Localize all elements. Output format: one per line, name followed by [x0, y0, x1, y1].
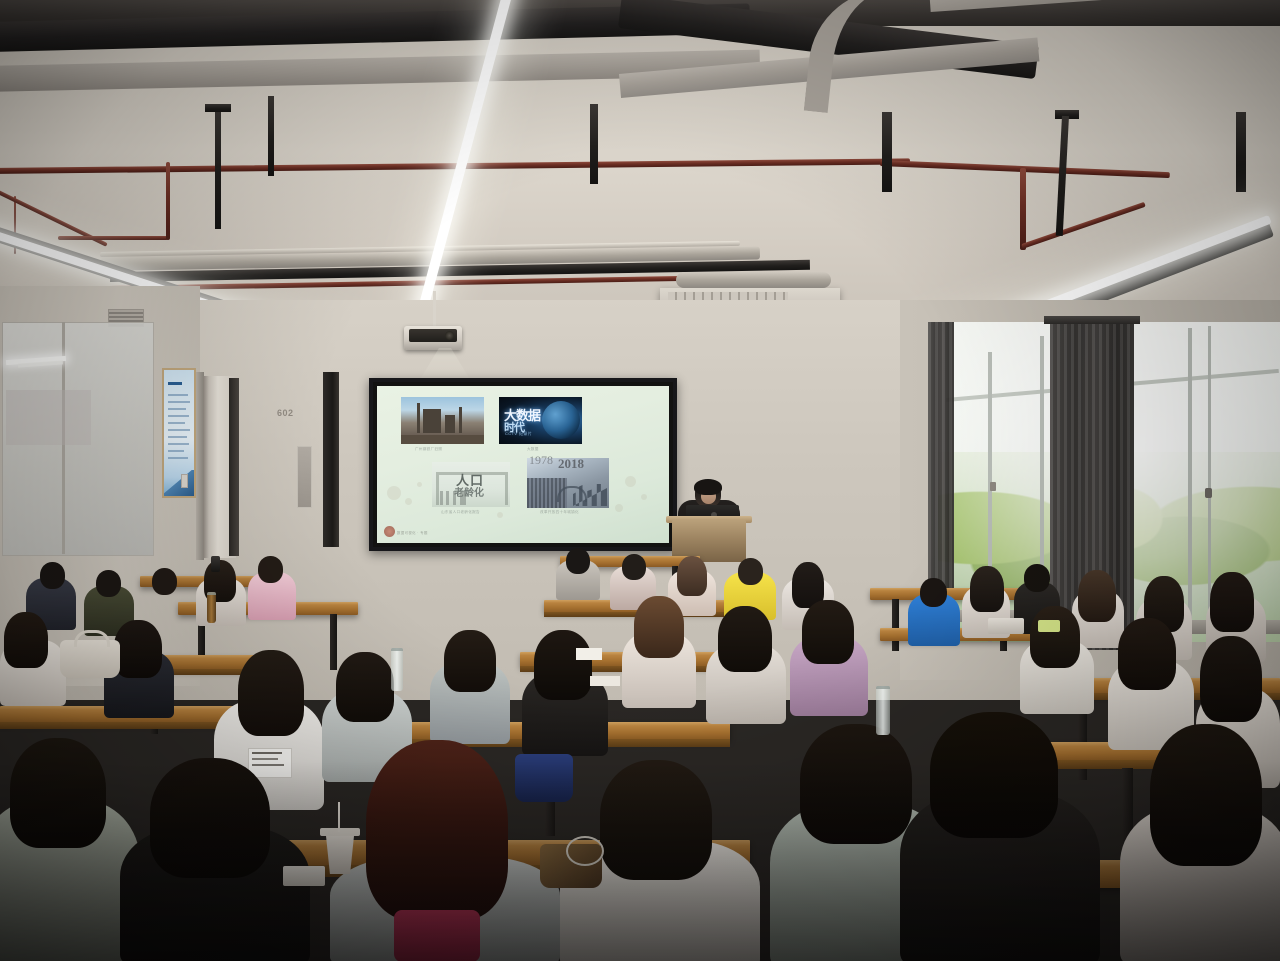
door-leaf[interactable] [229, 378, 239, 556]
slide-decor-dot [417, 482, 422, 487]
water-bottle[interactable] [876, 686, 890, 735]
light-switch[interactable] [181, 474, 188, 488]
poster-text-line [168, 415, 189, 417]
year-label-1978: 1978 [529, 453, 553, 468]
notebook-open[interactable] [988, 618, 1024, 634]
smartphone[interactable] [211, 556, 220, 572]
slide-image-factory [401, 397, 484, 444]
slide-decor-dot [387, 486, 401, 500]
factory-mast [459, 407, 462, 433]
slide-decor-dot [625, 476, 636, 487]
earphone-cable [566, 836, 604, 866]
projector-mount-rod [433, 291, 436, 327]
poster-text-line [168, 394, 188, 396]
student-hair [1200, 636, 1262, 722]
cup-lid [320, 828, 360, 836]
wall-column-dark [323, 372, 339, 547]
slide-decor-dot [641, 494, 647, 500]
fire-pipe-hanger-left [166, 162, 170, 240]
poster-text-line [168, 429, 190, 431]
paper-sheet[interactable] [590, 676, 620, 686]
student-head [622, 554, 646, 580]
student-hair-red-long [366, 740, 508, 920]
student-head [96, 570, 121, 597]
backpack-blue[interactable] [515, 754, 573, 802]
student-hair [336, 652, 394, 722]
slide-footer-brand: 数据可视化 · 专题 [397, 530, 428, 535]
fire-sprinkler-drop-right [1020, 168, 1026, 250]
desk-leg [892, 599, 899, 651]
factory-ground [401, 435, 484, 444]
curtain-rail [1044, 316, 1140, 324]
factory-building [445, 415, 455, 433]
hoodie-patch-line [252, 752, 282, 754]
slide-caption-bigdata: 大数据 [527, 447, 539, 452]
student-head [40, 562, 65, 589]
drinking-straw [338, 802, 340, 832]
student-hair [150, 758, 270, 878]
globe-graphic [542, 401, 580, 439]
slide-image-bigdata: 大数据 时代 CCTV 纪录片 [499, 397, 582, 444]
student-hair [970, 566, 1004, 612]
slide-decor-dot [497, 512, 503, 518]
poster-text-line [168, 457, 188, 459]
student-hair [4, 612, 48, 668]
desk-leg [330, 614, 337, 670]
ceiling-hanger-1-plate [205, 104, 231, 112]
student-hair [600, 760, 712, 880]
slide-content: 大数据 时代 CCTV 纪录片 人口 老龄化 1978 [377, 386, 669, 543]
ceiling-hanger-1 [215, 104, 221, 229]
slide-logo-mark [384, 526, 395, 537]
student-hair [114, 620, 162, 678]
wall-niche-panel [297, 446, 312, 508]
student-head [566, 548, 590, 574]
population-figures [440, 491, 466, 505]
factory-building [423, 409, 441, 433]
slide-caption-population: 山东省人口老龄化报告 [441, 510, 480, 515]
poster-heading-bar [168, 382, 182, 385]
bottle-brown[interactable] [207, 592, 216, 623]
poster-text-line [168, 443, 189, 445]
wall-poster-blue [162, 368, 196, 498]
projector-lens [445, 331, 454, 340]
arch-graphic [557, 486, 587, 502]
ceiling-hanger-6 [1236, 112, 1246, 192]
slide-caption-factory: 广州钢铁厂旧照 [415, 447, 442, 452]
fire-pipe-horiz-left [58, 236, 168, 240]
student-head [152, 568, 177, 595]
slide-image-population: 人口 老龄化 [432, 462, 510, 507]
hoodie-patch-line [252, 758, 278, 760]
student-hair [802, 600, 854, 664]
student-hair [1118, 618, 1176, 690]
student-hair [634, 596, 684, 658]
slide-decor-dot [405, 498, 412, 505]
tote-bag-handle [74, 630, 110, 647]
poster-text-line [168, 401, 190, 403]
green-pouch[interactable] [1038, 620, 1060, 632]
student-hair [677, 556, 707, 596]
poster-text-line [168, 408, 186, 410]
student-hair [930, 712, 1058, 838]
student-head [920, 578, 947, 607]
bigdata-subtitle: CCTV 纪录片 [505, 431, 532, 437]
projection-surface: 大数据 时代 CCTV 纪录片 人口 老龄化 1978 [377, 386, 669, 543]
student-hair [1150, 724, 1262, 866]
room-number-label: 602 [277, 408, 294, 418]
slide-decor-dot [615, 504, 623, 512]
paper-sheet[interactable] [576, 648, 602, 660]
student-hair [1030, 606, 1080, 668]
presenter-hair [694, 479, 722, 495]
ceiling-hanger-2 [268, 96, 274, 176]
student-hair [10, 738, 106, 848]
student-hair [444, 630, 496, 692]
ac-duct [676, 272, 831, 288]
window-curtain-left[interactable] [928, 322, 954, 592]
ceiling-projector [404, 326, 462, 350]
poster-graphic-wave [164, 470, 194, 496]
window-mullion-4 [1208, 326, 1211, 626]
window-latch-handle-2[interactable] [1205, 488, 1212, 498]
water-bottle[interactable] [391, 648, 403, 691]
ceiling-hanger-3 [590, 104, 598, 184]
slide-caption-urbanization: 改革开放四十年城镇化 [540, 510, 579, 515]
poster-text-line [168, 422, 185, 424]
student-hair [238, 650, 304, 736]
notebook-white[interactable] [283, 866, 325, 886]
whiteboard-reflection [6, 390, 91, 445]
shirt-graphic-pink [394, 910, 480, 961]
projection-screen: 大数据 时代 CCTV 纪录片 人口 老龄化 1978 [369, 378, 677, 551]
student-head [1024, 564, 1050, 592]
window-latch-handle[interactable] [990, 482, 996, 491]
student-hair [718, 606, 772, 672]
hvac-duct-curve [804, 0, 991, 129]
year-label-2018: 2018 [558, 456, 584, 472]
poster-text-line [168, 436, 187, 438]
student-hair [800, 724, 912, 844]
window-mullion-3 [1188, 328, 1192, 628]
factory-tower [417, 403, 420, 433]
student-hair [1078, 570, 1116, 622]
poster-text-line [168, 450, 184, 452]
classroom-photo: 602 [0, 0, 1280, 961]
hoodie-patch-line [252, 764, 284, 766]
student-hair [534, 630, 592, 700]
student-head [738, 558, 763, 585]
ceiling-hanger-4 [882, 112, 892, 192]
student-head [258, 556, 283, 583]
student-hair [1210, 572, 1254, 632]
